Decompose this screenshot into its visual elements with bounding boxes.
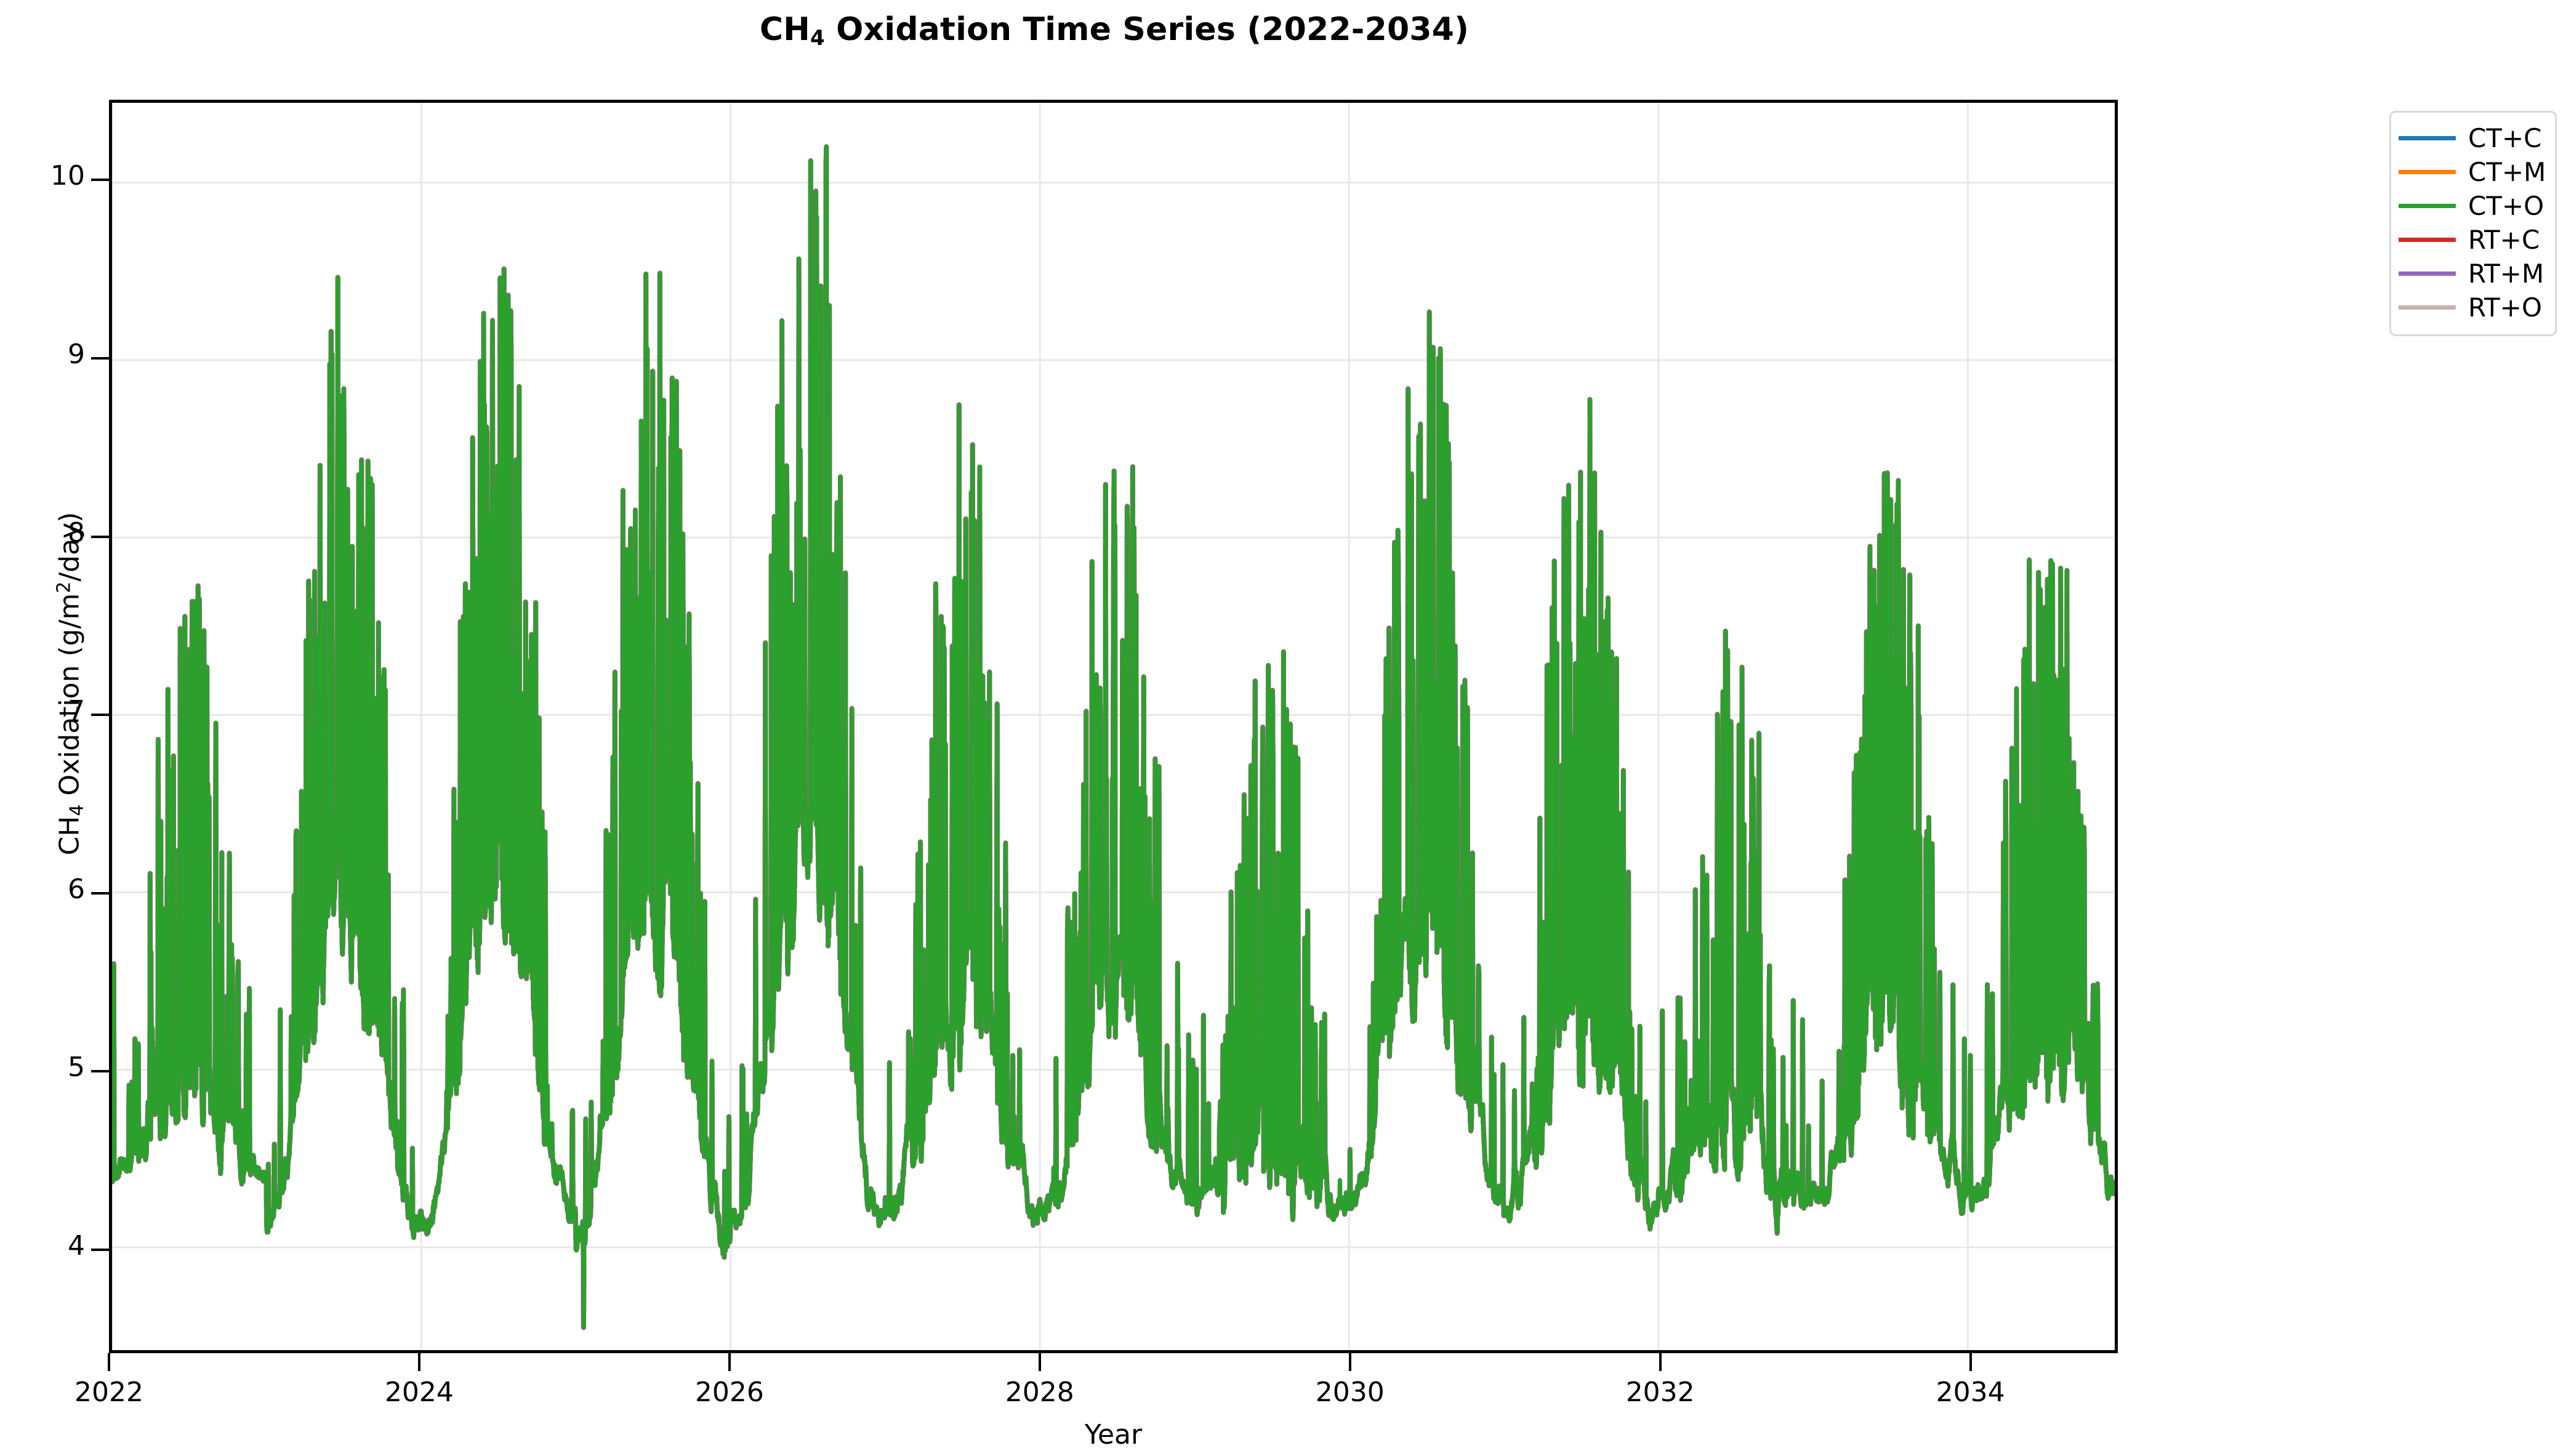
y-axis-label-superscript: 2	[54, 582, 75, 593]
figure-canvas: CH4 Oxidation Time Series (2022-2034) CH…	[0, 0, 2574, 1456]
y-tick-mark	[91, 1249, 109, 1251]
x-tick-label: 2026	[668, 1379, 791, 1406]
legend-label: RT+C	[2468, 227, 2540, 253]
legend-item-ct-m[interactable]: CT+M	[2399, 155, 2548, 189]
x-tick-label: 2030	[1289, 1379, 1412, 1406]
y-tick-label: 5	[0, 1054, 85, 1081]
legend-label: CT+C	[2468, 126, 2542, 151]
y-tick-mark	[91, 1070, 109, 1072]
x-tick-label: 2032	[1599, 1379, 1722, 1406]
y-tick-mark	[91, 357, 109, 360]
chart-title-suffix: Oxidation Time Series (2022-2034)	[825, 11, 1469, 48]
y-axis-label-prefix: CH	[54, 816, 86, 856]
legend-label: CT+O	[2468, 193, 2544, 219]
legend-swatch-icon	[2399, 238, 2456, 242]
legend-label: RT+O	[2468, 295, 2542, 321]
chart-title: CH4 Oxidation Time Series (2022-2034)	[0, 11, 2229, 48]
legend-swatch-icon	[2399, 170, 2456, 174]
x-tick-mark	[1039, 1353, 1041, 1371]
x-tick-mark	[1349, 1353, 1351, 1371]
chart-title-prefix: CH	[760, 11, 810, 48]
x-tick-mark	[1969, 1353, 1972, 1371]
y-axis-label: CH4 Oxidation (g/m2/day)	[54, 57, 86, 1311]
y-tick-mark	[91, 536, 109, 538]
y-axis-label-subscript: 4	[66, 804, 88, 816]
y-tick-label: 10	[0, 163, 85, 190]
legend-item-ct-c[interactable]: CT+C	[2399, 121, 2548, 155]
x-tick-label: 2024	[358, 1379, 481, 1406]
x-axis-label: Year	[109, 1419, 2118, 1450]
y-tick-label: 6	[0, 876, 85, 903]
legend-item-ct-o[interactable]: CT+O	[2399, 189, 2548, 223]
x-tick-label: 2028	[978, 1379, 1101, 1406]
x-tick-mark	[728, 1353, 731, 1371]
series-lines	[112, 103, 2115, 1350]
legend-swatch-icon	[2399, 305, 2456, 310]
y-tick-label: 4	[0, 1233, 85, 1260]
x-tick-label: 2022	[47, 1379, 171, 1406]
x-tick-mark	[108, 1353, 110, 1371]
series-line-ct-o	[112, 147, 2115, 1327]
x-tick-label: 2034	[1909, 1379, 2032, 1406]
legend-swatch-icon	[2399, 271, 2456, 276]
chart-title-subscript: 4	[810, 26, 825, 50]
y-tick-mark	[91, 179, 109, 181]
plot-area	[109, 100, 2118, 1353]
legend-swatch-icon	[2399, 204, 2456, 208]
legend-label: CT+M	[2468, 159, 2546, 185]
legend-label: RT+M	[2468, 261, 2544, 287]
y-tick-label: 8	[0, 520, 85, 547]
x-tick-mark	[418, 1353, 420, 1371]
legend-swatch-icon	[2399, 136, 2456, 140]
legend[interactable]: CT+CCT+MCT+ORT+CRT+MRT+O	[2389, 111, 2557, 336]
legend-item-rt-o[interactable]: RT+O	[2399, 291, 2548, 324]
y-tick-mark	[91, 892, 109, 895]
legend-item-rt-m[interactable]: RT+M	[2399, 257, 2548, 291]
x-tick-mark	[1659, 1353, 1662, 1371]
legend-item-rt-c[interactable]: RT+C	[2399, 223, 2548, 257]
y-tick-label: 7	[0, 698, 85, 725]
y-tick-label: 9	[0, 341, 85, 368]
y-tick-mark	[91, 714, 109, 716]
